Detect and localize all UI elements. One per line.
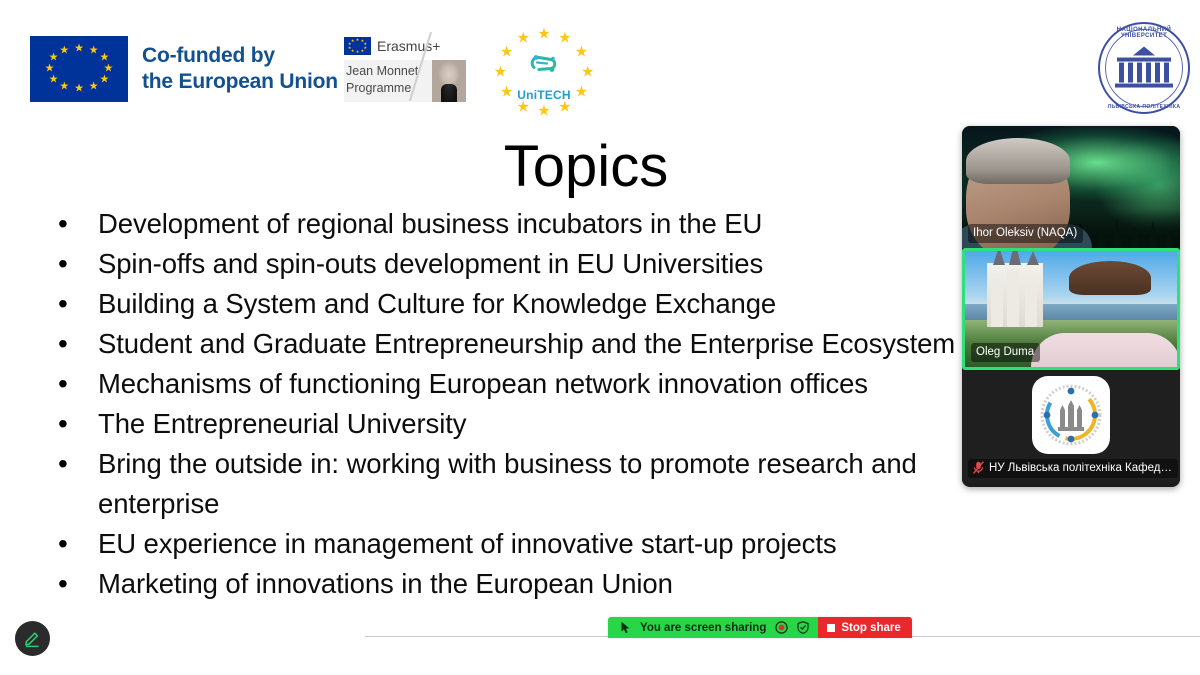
eu-cofunded-line2: the European Union [142, 69, 338, 95]
bullet-marker-icon: • [48, 204, 98, 244]
stop-square-icon [827, 624, 835, 632]
jean-monnet-portrait-image [432, 60, 466, 102]
eu-cofunded-text: Co-funded by the European Union [142, 43, 338, 95]
mic-muted-icon [973, 461, 984, 476]
erasmus-jean-monnet-logo: ★ ★ ★ ★ ★ ★ ★ ★ ★ ★ Erasmus+ Jean Monnet… [344, 32, 466, 104]
emblem-building-icon [1113, 45, 1175, 96]
list-item: • Mechanisms of functioning European net… [48, 364, 988, 404]
video-filmstrip[interactable]: Ihor Oleksiv (NAQA) Oleg Duma [962, 126, 1180, 487]
participant-name-text: Ihor Oleksiv (NAQA) [973, 226, 1077, 241]
stop-share-button[interactable]: Stop share [818, 617, 911, 638]
bullet-marker-icon: • [48, 244, 98, 284]
participant-name-text: НУ Львівська політехніка Кафед… [989, 461, 1172, 476]
list-item: • Marketing of innovations in the Europe… [48, 564, 988, 604]
participant-hair [966, 138, 1070, 184]
jean-monnet-block: Jean Monnet Programme [344, 60, 466, 102]
bullet-marker-icon: • [48, 324, 98, 364]
emblem-top-text: НАЦІОНАЛЬНИЙ УНІВЕРСИТЕТ [1098, 27, 1190, 39]
list-item: • The Entrepreneurial University [48, 404, 988, 444]
screen-share-toolbar[interactable]: You are screen sharing Stop share [608, 617, 912, 638]
eu-flag-icon: ★ ★ ★ ★ ★ ★ ★ ★ ★ ★ ★ ★ [30, 36, 128, 102]
list-item-text: EU experience in management of innovativ… [98, 524, 837, 564]
jean-monnet-line2: Programme [346, 80, 418, 97]
participant-name-label: Oleg Duma [971, 343, 1040, 362]
list-item-text: Development of regional business incubat… [98, 204, 762, 244]
bullet-list: • Development of regional business incub… [48, 204, 988, 604]
list-item-text: Mechanisms of functioning European netwo… [98, 364, 868, 404]
list-item-text: The Entrepreneurial University [98, 404, 466, 444]
pointer-icon [620, 621, 631, 634]
stop-share-label: Stop share [841, 622, 900, 634]
shield-icon[interactable] [797, 621, 809, 634]
pencil-annotate-icon [23, 629, 42, 648]
video-tile-active-speaker[interactable]: Oleg Duma [962, 248, 1180, 370]
avatar [1032, 376, 1110, 454]
list-item-text: Marketing of innovations in the European… [98, 564, 673, 604]
video-tile-participant[interactable]: Ihor Oleksiv (NAQA) [962, 126, 1180, 248]
screen-share-status-label: You are screen sharing [640, 622, 766, 634]
list-item: • Development of regional business incub… [48, 204, 988, 244]
participant-name-text: Oleg Duma [976, 345, 1034, 360]
list-item: • Bring the outside in: working with bus… [48, 444, 988, 524]
participant-name-label: Ihor Oleksiv (NAQA) [968, 224, 1083, 243]
list-item-text: Spin-offs and spin-outs development in E… [98, 244, 763, 284]
unitech-tech-icon [527, 51, 561, 82]
bullet-marker-icon: • [48, 564, 98, 604]
participant-hair [1069, 261, 1151, 295]
list-item: • Student and Graduate Entrepreneurship … [48, 324, 988, 364]
emblem-bottom-text: ЛЬВІВСЬКА ПОЛІТЕХНІКА [1098, 104, 1190, 110]
unitech-wordmark: UniTECH [517, 88, 570, 102]
list-item-text: Bring the outside in: working with busin… [98, 444, 917, 524]
bullet-marker-icon: • [48, 444, 98, 484]
bullet-marker-icon: • [48, 404, 98, 444]
annotate-button[interactable] [15, 621, 50, 656]
list-item-text: Building a System and Culture for Knowle… [98, 284, 776, 324]
erasmus-plus-label: Erasmus+ [377, 38, 440, 54]
record-indicator-icon[interactable] [775, 621, 788, 634]
unitech-logo: ★ ★ ★ ★ ★ ★ ★ ★ ★ ★ ★ ★ [492, 26, 596, 122]
list-item: • Spin-offs and spin-outs development in… [48, 244, 988, 284]
lviv-polytechnic-emblem: НАЦІОНАЛЬНИЙ УНІВЕРСИТЕТ ЛЬВІВСЬКА ПОЛІТ… [1098, 22, 1190, 114]
bullet-marker-icon: • [48, 524, 98, 564]
eu-cofunded-line1: Co-funded by [142, 43, 338, 69]
jean-monnet-line1: Jean Monnet [346, 63, 418, 80]
eu-cofunded-logo: ★ ★ ★ ★ ★ ★ ★ ★ ★ ★ ★ ★ Co-funded by the… [30, 36, 338, 102]
bullet-marker-icon: • [48, 364, 98, 404]
list-item: • EU experience in management of innovat… [48, 524, 988, 564]
castle-image [987, 263, 1043, 327]
eu-flag-mini-icon: ★ ★ ★ ★ ★ ★ ★ ★ ★ ★ [344, 37, 371, 55]
bullet-marker-icon: • [48, 284, 98, 324]
list-item-text: Student and Graduate Entrepreneurship an… [98, 324, 955, 364]
logo-bar: ★ ★ ★ ★ ★ ★ ★ ★ ★ ★ ★ ★ Co-funded by the… [0, 0, 1200, 122]
screen-share-status: You are screen sharing [608, 617, 818, 638]
video-tile-avatar[interactable]: НУ Львівська політехніка Кафед… [962, 370, 1180, 483]
list-item: • Building a System and Culture for Know… [48, 284, 988, 324]
participant-name-label: НУ Львівська політехніка Кафед… [968, 459, 1178, 478]
